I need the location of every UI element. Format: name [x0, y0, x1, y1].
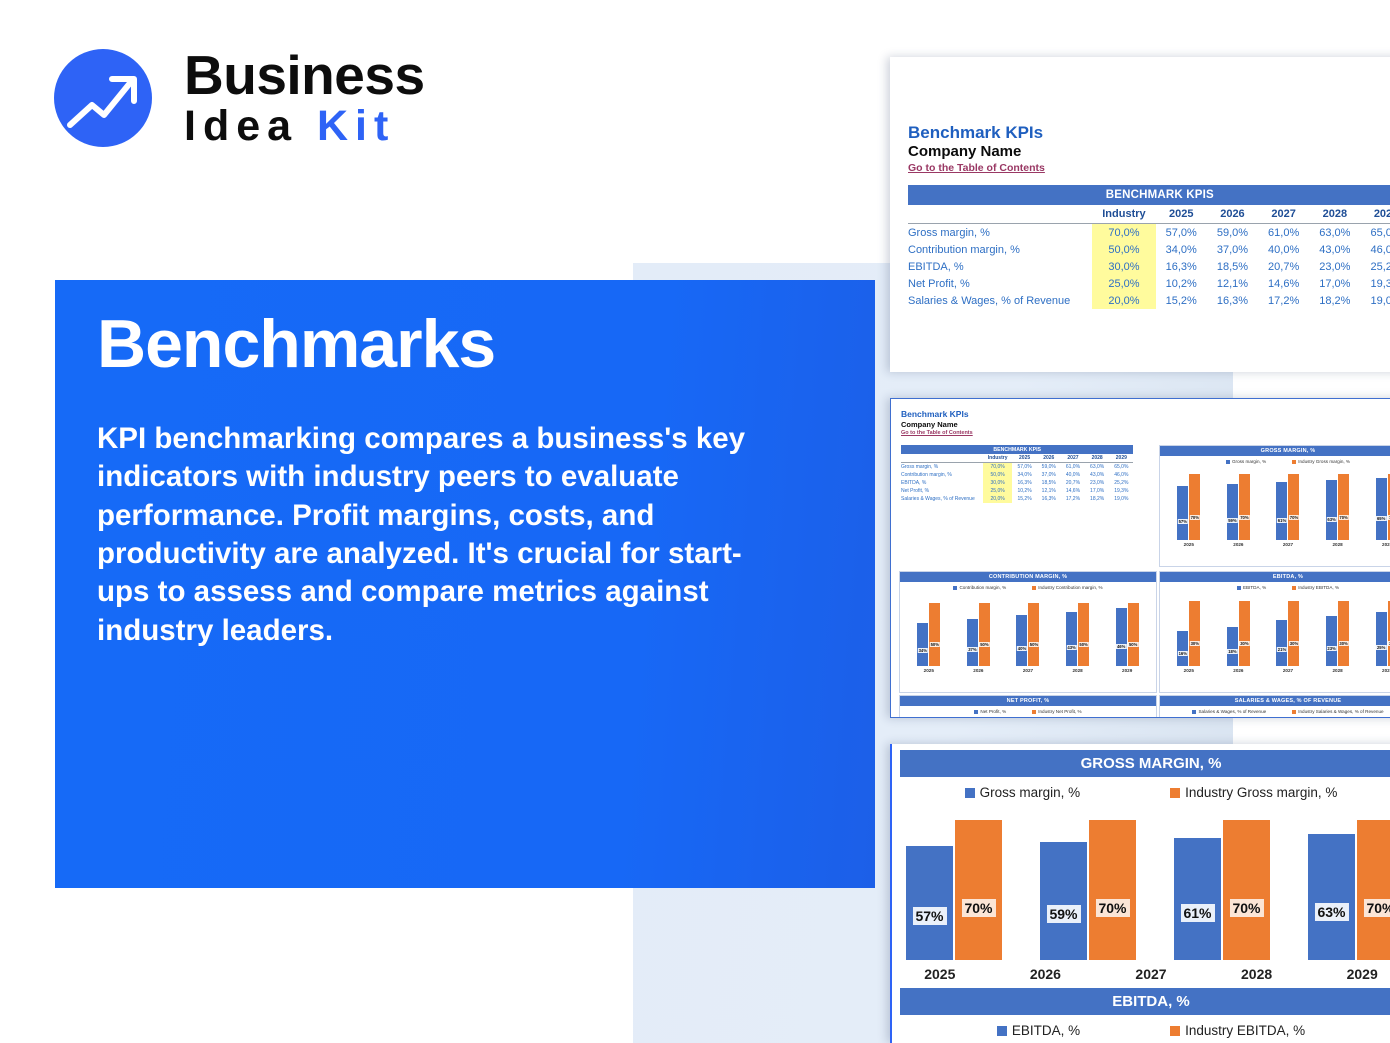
table-of-contents-link[interactable]: Go to the Table of Contents	[908, 162, 1045, 174]
table-row: Salaries & Wages, % of Revenue20,0%15,2%…	[908, 292, 1390, 309]
legend-swatch-blue-icon	[965, 788, 975, 798]
chart-bar-label: 70%	[1363, 899, 1390, 917]
table-cell-value: 16,3%	[1012, 479, 1036, 487]
mini-chart-legend: Net Profit, %Industry Net Profit, %	[900, 706, 1156, 714]
mini-bar-group: 40%50%	[1016, 590, 1039, 666]
mini-axis-tick: 2026	[1226, 668, 1250, 673]
mini-bar: 50%	[1078, 603, 1089, 666]
chart-x-axis-gross-margin: 20252026202720282029	[892, 960, 1390, 982]
chart-axis-tick: 2026	[1012, 966, 1080, 982]
chart-title-ebitda: EBITDA, %	[900, 988, 1390, 1015]
mini-bar-label: 65%	[1376, 516, 1386, 521]
sheet-heading: Benchmark KPIs	[908, 123, 1043, 143]
mini-chart-title: NET PROFIT, %	[900, 696, 1156, 706]
table-cell-value: 43,0%	[1085, 471, 1109, 479]
table-cell-industry: 30,0%	[1092, 258, 1155, 275]
chart-bar: 63%	[1308, 834, 1355, 960]
mini-axis-tick: 2027	[1016, 668, 1040, 673]
mini-bar-group: 15%25%	[1016, 714, 1039, 717]
table-cell-value: 17,0%	[1085, 487, 1109, 495]
table-row-label: EBITDA, %	[901, 479, 983, 487]
mini-bar: 57%	[1177, 486, 1188, 540]
mini-bar-group: 23%30%	[1326, 590, 1349, 666]
table-cell-value: 20,7%	[1061, 479, 1085, 487]
mini-chart-ebitda[interactable]: EBITDA, %EBITDA, %Industry EBITDA, %16%3…	[1159, 571, 1390, 693]
mini-bar: 25%	[1376, 612, 1387, 666]
legend-item-series2: Industry Gross margin, %	[1170, 785, 1337, 800]
mini-bar-group: 46%50%	[1116, 590, 1139, 666]
table-cell-value: 63,0%	[1309, 224, 1360, 242]
mini-bar-label: 46%	[1116, 644, 1126, 649]
mini-axis-tick: 2026	[1226, 542, 1250, 547]
table-cell-value: 63,0%	[1085, 463, 1109, 472]
table-row-label: EBITDA, %	[908, 258, 1092, 275]
chart-bar-label: 70%	[961, 899, 995, 917]
table-cell-industry: 70,0%	[983, 463, 1013, 472]
table-row: Net Profit, %25,0%10,2%12,1%14,6%17,0%19…	[908, 275, 1390, 292]
mini-bar-group: 16%20%	[1227, 714, 1250, 717]
mini-bar: 70%	[1288, 474, 1299, 541]
mini-bar-group: 15%20%	[1177, 714, 1200, 717]
table-cell-value: 59,0%	[1037, 463, 1061, 472]
mini-chart-legend: Gross margin, %Industry Gross margin, %	[1160, 456, 1390, 464]
table-cell-value: 19,3%	[1109, 487, 1133, 495]
mini-bar-group: 16%30%	[1177, 590, 1200, 666]
brand-name-primary: Business	[184, 48, 425, 103]
table-cell-industry: 25,0%	[983, 487, 1013, 495]
mini-bar: 21%	[1276, 620, 1287, 666]
table-cell-value: 57,0%	[1156, 224, 1207, 242]
chart-legend-gross-margin: Gross margin, % Industry Gross margin, %	[892, 777, 1390, 800]
table-cell-industry: 50,0%	[983, 471, 1013, 479]
growth-arrow-icon	[54, 49, 152, 147]
mini-bar-label: 70%	[1289, 515, 1299, 520]
mini-bar-label: 25%	[1376, 645, 1386, 650]
table-cell-industry: 25,0%	[1092, 275, 1155, 292]
table-column-header: 2025	[1012, 454, 1036, 463]
hero-description: KPI benchmarking compares a business's k…	[97, 420, 769, 650]
table-cell-industry: 20,0%	[983, 495, 1013, 503]
table-cell-value: 17,2%	[1258, 292, 1309, 309]
mini-bar: 50%	[929, 603, 940, 666]
mini-sheet-company-name: Company Name	[901, 420, 958, 429]
table-cell-industry: 30,0%	[983, 479, 1013, 487]
bar-group: 61%70%	[1174, 800, 1270, 960]
mini-bar: 18%	[1227, 627, 1238, 666]
page-title: Benchmarks	[97, 305, 495, 383]
mini-chart-net-profit[interactable]: NET PROFIT, %Net Profit, %Industry Net P…	[899, 695, 1157, 717]
mini-bar: 23%	[1326, 616, 1337, 666]
mini-axis-tick: 2026	[966, 668, 990, 673]
table-column-header: 2025	[1156, 205, 1207, 224]
mini-chart-plot: 10%25%12%25%15%25%17%25%19%25%	[900, 714, 1156, 717]
table-row: Net Profit, %25,0%10,2%12,1%14,6%17,0%19…	[901, 487, 1133, 495]
chart-title-gross-margin: GROSS MARGIN, %	[900, 750, 1390, 777]
mini-bar: 59%	[1227, 484, 1238, 540]
table-row-label: Contribution margin, %	[908, 241, 1092, 258]
mini-bar-label: 40%	[1017, 646, 1027, 651]
mini-axis-tick: 2025	[1177, 668, 1201, 673]
table-cell-value: 14,6%	[1258, 275, 1309, 292]
zoomed-charts-sheet: GROSS MARGIN, % Gross margin, % Industry…	[890, 744, 1390, 1043]
table-cell-value: 12,1%	[1037, 487, 1061, 495]
mini-axis-tick: 2029	[1375, 542, 1390, 547]
chart-bar-label: 70%	[1095, 899, 1129, 917]
mini-bar-label: 34%	[918, 648, 928, 653]
bar-group: 57%70%	[906, 800, 1002, 960]
mini-bar-label: 59%	[1227, 518, 1237, 523]
chart-bar-label: 61%	[1180, 904, 1214, 922]
chart-bar-label: 70%	[1229, 899, 1263, 917]
mini-axis-tick: 2027	[1276, 668, 1300, 673]
mini-chart-gross-margin[interactable]: GROSS MARGIN, %Gross margin, %Industry G…	[1159, 445, 1390, 567]
chart-axis-tick: 2025	[906, 966, 974, 982]
table-cell-value: 61,0%	[1061, 463, 1085, 472]
table-cell-value: 10,2%	[1012, 487, 1036, 495]
table-cell-value: 19,0%	[1109, 495, 1133, 503]
table-row-label: Net Profit, %	[901, 487, 983, 495]
table-column-header: 2026	[1037, 454, 1061, 463]
mini-bar: 30%	[1239, 601, 1250, 666]
kpi-table-sheet: Benchmark KPIs Company Name Go to the Ta…	[890, 57, 1390, 372]
mini-bar-group: 57%70%	[1177, 464, 1200, 540]
table-row-label: Salaries & Wages, % of Revenue	[908, 292, 1092, 309]
table-cell-value: 40,0%	[1258, 241, 1309, 258]
mini-bar: 30%	[1288, 601, 1299, 666]
table-cell-value: 34,0%	[1156, 241, 1207, 258]
table-cell-value: 14,6%	[1061, 487, 1085, 495]
slide-canvas: Business Idea Kit Benchmarks KPI benchma…	[0, 0, 1390, 1043]
chart-bar: 61%	[1174, 838, 1221, 960]
bar-group: 63%70%	[1308, 800, 1390, 960]
mini-bar-label: 61%	[1277, 518, 1287, 523]
dashboard-sheet: Benchmark KPIs Company Name Go to the Ta…	[890, 398, 1390, 718]
mini-chart-legend: Contribution margin, %Industry Contribut…	[900, 582, 1156, 590]
mini-bar-label: 70%	[1239, 515, 1249, 520]
mini-bar: 43%	[1066, 612, 1077, 666]
mini-bar: 70%	[1239, 474, 1250, 541]
mini-bar: 70%	[1189, 474, 1200, 541]
mini-chart-x-axis: 20252026202720282029	[900, 666, 1156, 673]
table-cell-value: 65,0%	[1109, 463, 1133, 472]
mini-bar-label: 50%	[979, 642, 989, 647]
mini-chart-salaries-wages[interactable]: SALARIES & WAGES, % OF REVENUESalaries &…	[1159, 695, 1390, 717]
table-row-label: Gross margin, %	[908, 224, 1092, 242]
mini-chart-title: GROSS MARGIN, %	[1160, 446, 1390, 456]
table-cell-value: 16,3%	[1037, 495, 1061, 503]
mini-bar-label: 63%	[1326, 517, 1336, 522]
legend-item-ebitda-series2: Industry EBITDA, %	[1170, 1023, 1305, 1038]
chart-bar-label: 63%	[1314, 903, 1348, 921]
table-column-header: Industry	[983, 454, 1013, 463]
mini-table-banner: BENCHMARK KPIS	[901, 445, 1133, 454]
table-cell-value: 18,2%	[1309, 292, 1360, 309]
mini-bar-label: 70%	[1190, 515, 1200, 520]
legend-swatch-orange-icon	[1170, 1026, 1180, 1036]
table-cell-value: 19,3%	[1360, 275, 1390, 292]
table-cell-value: 18,2%	[1085, 495, 1109, 503]
table-column-header: 2027	[1258, 205, 1309, 224]
mini-chart-title: CONTRIBUTION MARGIN, %	[900, 572, 1156, 582]
sheet-company-name: Company Name	[908, 143, 1021, 160]
legend-item-ebitda-series1: EBITDA, %	[997, 1023, 1080, 1038]
mini-sheet-heading: Benchmark KPIs	[901, 409, 969, 419]
table-body: Gross margin, %70,0%57,0%59,0%61,0%63,0%…	[908, 224, 1390, 310]
table-cell-value: 15,2%	[1012, 495, 1036, 503]
mini-bar-label: 50%	[1029, 642, 1039, 647]
mini-bar-label: 50%	[930, 642, 940, 647]
mini-bar-label: 30%	[1289, 641, 1299, 646]
table-cell-value: 25,2%	[1360, 258, 1390, 275]
mini-chart-legend: EBITDA, %Industry EBITDA, %	[1160, 582, 1390, 590]
table-column-header: 2029	[1360, 205, 1390, 224]
table-cell-value: 61,0%	[1258, 224, 1309, 242]
mini-bar-label: 50%	[1078, 642, 1088, 647]
mini-chart-contribution-margin[interactable]: CONTRIBUTION MARGIN, %Contribution margi…	[899, 571, 1157, 693]
mini-axis-tick: 2028	[1326, 668, 1350, 673]
chart-bar: 70%	[1357, 820, 1390, 960]
table-column-header: Industry	[1092, 205, 1155, 224]
table-column-header: 2029	[1109, 454, 1133, 463]
mini-bar: 50%	[979, 603, 990, 666]
mini-bar: 70%	[1338, 474, 1349, 541]
mini-axis-tick: 2028	[1326, 542, 1350, 547]
legend-item-series1: Gross margin, %	[965, 785, 1081, 800]
table-row: Gross margin, %70,0%57,0%59,0%61,0%63,0%…	[908, 224, 1390, 242]
table-row-label: Gross margin, %	[901, 463, 983, 472]
table-row: EBITDA, %30,0%16,3%18,5%20,7%23,0%25,2%	[901, 479, 1133, 487]
mini-axis-tick: 2029	[1375, 668, 1390, 673]
mini-bar-label: 21%	[1277, 647, 1287, 652]
mini-bar: 30%	[1338, 601, 1349, 666]
mini-table-header-row: Industry20252026202720282029	[901, 454, 1133, 463]
table-banner: BENCHMARK KPIS	[908, 185, 1390, 205]
brand-logo: Business Idea Kit	[54, 48, 425, 148]
hero-panel: Benchmarks KPI benchmarking compares a b…	[55, 280, 875, 888]
table-cell-value: 65,0%	[1360, 224, 1390, 242]
mini-table-of-contents-link[interactable]: Go to the Table of Contents	[901, 430, 973, 436]
mini-bar-label: 43%	[1066, 645, 1076, 650]
chart-bar: 70%	[955, 820, 1002, 960]
mini-bar-group: 17%25%	[1066, 714, 1089, 717]
mini-bar-group: 59%70%	[1227, 464, 1250, 540]
mini-bar: 37%	[967, 619, 978, 666]
bar-group: 59%70%	[1040, 800, 1136, 960]
table-row: Contribution margin, %50,0%34,0%37,0%40,…	[908, 241, 1390, 258]
table-row: Gross margin, %70,0%57,0%59,0%61,0%63,0%…	[901, 463, 1133, 472]
table-cell-value: 57,0%	[1012, 463, 1036, 472]
mini-bar-label: 23%	[1326, 646, 1336, 651]
table-column-header: 2026	[1207, 205, 1258, 224]
mini-bar-group: 61%70%	[1276, 464, 1299, 540]
table-cell-value: 46,0%	[1109, 471, 1133, 479]
table-column-header: 2028	[1085, 454, 1109, 463]
table-cell-value: 18,5%	[1207, 258, 1258, 275]
chart-bar: 59%	[1040, 842, 1087, 960]
chart-bar: 70%	[1223, 820, 1270, 960]
mini-bar: 46%	[1116, 608, 1127, 666]
chart-legend-ebitda: EBITDA, % Industry EBITDA, %	[892, 1015, 1390, 1038]
chart-axis-tick: 2028	[1223, 966, 1291, 982]
chart-bar: 70%	[1089, 820, 1136, 960]
legend-swatch-orange-icon	[1170, 788, 1180, 798]
mini-bar: 50%	[1128, 603, 1139, 666]
brand-name-secondary: Idea Kit	[184, 105, 425, 148]
table-row: Contribution margin, %50,0%34,0%37,0%40,…	[901, 471, 1133, 479]
table-cell-value: 59,0%	[1207, 224, 1258, 242]
table-row: EBITDA, %30,0%16,3%18,5%20,7%23,0%25,2%	[908, 258, 1390, 275]
chart-bar-label: 57%	[912, 907, 946, 925]
table-cell-value: 16,3%	[1156, 258, 1207, 275]
mini-bar: 50%	[1028, 603, 1039, 666]
mini-bar: 16%	[1177, 631, 1188, 666]
table-cell-value: 25,2%	[1109, 479, 1133, 487]
mini-chart-title: SALARIES & WAGES, % OF REVENUE	[1160, 696, 1390, 706]
table-cell-value: 34,0%	[1012, 471, 1036, 479]
table-cell-value: 37,0%	[1207, 241, 1258, 258]
table-cell-value: 15,2%	[1156, 292, 1207, 309]
mini-bar: 61%	[1276, 482, 1287, 540]
mini-bar-group: 37%50%	[967, 590, 990, 666]
mini-bar: 34%	[917, 623, 928, 666]
mini-chart-x-axis: 20252026202720282029	[1160, 540, 1390, 547]
table-cell-value: 17,2%	[1061, 495, 1085, 503]
table-cell-value: 18,5%	[1037, 479, 1061, 487]
mini-bar-group: 25%30%	[1376, 590, 1390, 666]
mini-bar-label: 37%	[967, 647, 977, 652]
mini-chart-plot: 57%70%59%70%61%70%63%70%65%70%	[1160, 464, 1390, 540]
mini-benchmark-kpi-table: BENCHMARK KPIS Industry20252026202720282…	[901, 445, 1133, 503]
mini-bar-group: 19%25%	[1116, 714, 1139, 717]
mini-bar-label: 70%	[1338, 515, 1348, 520]
mini-bar-group: 17%20%	[1276, 714, 1299, 717]
chart-axis-tick: 2027	[1117, 966, 1185, 982]
mini-bar: 30%	[1189, 601, 1200, 666]
mini-bar-group: 18%20%	[1326, 714, 1349, 717]
table-cell-value: 19,0%	[1360, 292, 1390, 309]
mini-bar-label: 57%	[1178, 519, 1188, 524]
table-row: Salaries & Wages, % of Revenue20,0%15,2%…	[901, 495, 1133, 503]
mini-axis-tick: 2025	[917, 668, 941, 673]
table-cell-value: 20,7%	[1258, 258, 1309, 275]
benchmark-kpi-table: BENCHMARK KPIS Industry20252026202720282…	[908, 185, 1390, 309]
mini-chart-x-axis: 20252026202720282029	[1160, 666, 1390, 673]
table-cell-value: 10,2%	[1156, 275, 1207, 292]
mini-bar-label: 30%	[1338, 641, 1348, 646]
mini-bar-label: 30%	[1239, 641, 1249, 646]
table-header-row: Industry20252026202720282029	[908, 205, 1390, 224]
table-cell-industry: 20,0%	[1092, 292, 1155, 309]
mini-bar: 40%	[1016, 615, 1027, 666]
mini-axis-tick: 2028	[1066, 668, 1090, 673]
mini-bar-group: 18%30%	[1227, 590, 1250, 666]
table-row-label: Net Profit, %	[908, 275, 1092, 292]
mini-chart-plot: 15%20%16%20%17%20%18%20%19%20%	[1160, 714, 1390, 717]
table-cell-value: 16,3%	[1207, 292, 1258, 309]
table-cell-value: 12,1%	[1207, 275, 1258, 292]
chart-axis-tick: 2029	[1328, 966, 1390, 982]
table-cell-value: 43,0%	[1309, 241, 1360, 258]
mini-bar-group: 10%25%	[917, 714, 940, 717]
mini-chart-title: EBITDA, %	[1160, 572, 1390, 582]
mini-chart-plot: 34%50%37%50%40%50%43%50%46%50%	[900, 590, 1156, 666]
mini-bar-group: 21%30%	[1276, 590, 1299, 666]
table-cell-value: 23,0%	[1309, 258, 1360, 275]
mini-bar-label: 50%	[1128, 642, 1138, 647]
legend-swatch-blue-icon	[997, 1026, 1007, 1036]
mini-axis-tick: 2025	[1177, 542, 1201, 547]
mini-table-body: Gross margin, %70,0%57,0%59,0%61,0%63,0%…	[901, 463, 1133, 504]
table-row-label: Salaries & Wages, % of Revenue	[901, 495, 983, 503]
mini-bar-label: 18%	[1227, 649, 1237, 654]
table-cell-value: 17,0%	[1309, 275, 1360, 292]
table-cell-industry: 50,0%	[1092, 241, 1155, 258]
mini-bar-label: 30%	[1190, 641, 1200, 646]
mini-bar: 65%	[1376, 478, 1387, 540]
chart-plot-area-gross-margin: 57%70%59%70%61%70%63%70%65%70%	[892, 800, 1390, 960]
brand-kit-text: Kit	[317, 102, 395, 150]
mini-bar-group: 12%25%	[967, 714, 990, 717]
mini-bar-group: 63%70%	[1326, 464, 1349, 540]
mini-bar-group: 19%20%	[1376, 714, 1390, 717]
mini-bar-group: 43%50%	[1066, 590, 1089, 666]
table-cell-value: 37,0%	[1037, 471, 1061, 479]
table-cell-industry: 70,0%	[1092, 224, 1155, 242]
table-row-label: Contribution margin, %	[901, 471, 983, 479]
chart-bar-label: 59%	[1046, 905, 1080, 923]
table-column-header: 2028	[1309, 205, 1360, 224]
mini-bar: 63%	[1326, 480, 1337, 540]
chart-bar: 57%	[906, 846, 953, 960]
brand-idea-text: Idea	[184, 102, 317, 150]
mini-axis-tick: 2027	[1276, 542, 1300, 547]
table-cell-value: 23,0%	[1085, 479, 1109, 487]
mini-chart-plot: 16%30%18%30%21%30%23%30%25%30%	[1160, 590, 1390, 666]
mini-chart-legend: Salaries & Wages, % of RevenueIndustry S…	[1160, 706, 1390, 714]
table-cell-value: 46,0%	[1360, 241, 1390, 258]
table-cell-value: 40,0%	[1061, 471, 1085, 479]
mini-bar-group: 34%50%	[917, 590, 940, 666]
table-column-header: 2027	[1061, 454, 1085, 463]
mini-bar-group: 65%70%	[1376, 464, 1390, 540]
mini-bar-label: 16%	[1178, 651, 1188, 656]
mini-axis-tick: 2029	[1115, 668, 1139, 673]
